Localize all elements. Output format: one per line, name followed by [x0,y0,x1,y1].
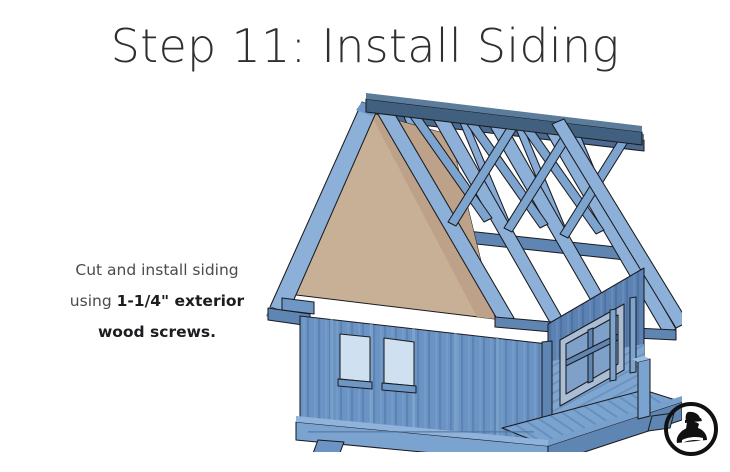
brand-logo [662,400,720,458]
slide-canvas: Step 11: Install Siding Cut and install … [0,0,730,472]
logo-figure [677,412,707,447]
caption-line-3-bold: wood screws. [98,323,216,341]
shed-framing-illustration [252,72,682,452]
caption-line-1-text: Cut and install siding [75,261,238,279]
caption-line-1: Cut and install siding [38,255,276,286]
caption-line-2-bold: 1-1/4" exterior [117,292,245,310]
instruction-caption: Cut and install siding using 1-1/4" exte… [38,255,276,348]
caption-line-3: wood screws. [38,317,276,348]
caption-line-2: using 1-1/4" exterior [38,286,276,317]
page-title: Step 11: Install Siding [0,18,730,74]
caption-line-2-regular: using [70,292,117,310]
